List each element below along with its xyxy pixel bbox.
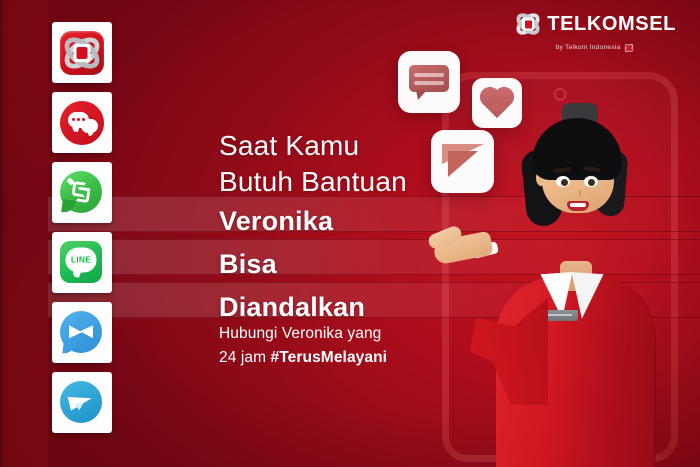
pupil-right: [588, 179, 595, 186]
headline-line-2: Butuh Bantuan: [219, 164, 407, 200]
channel-item-whatsapp[interactable]: [52, 162, 112, 223]
telkom-indonesia-icon: [624, 42, 635, 53]
footer-prefix: 24 jam: [219, 349, 271, 366]
highlight-line-2: Bisa: [219, 243, 365, 286]
line-icon: LINE: [60, 241, 104, 285]
channel-item-messenger[interactable]: [52, 302, 112, 363]
highlight-block: Veronika Bisa Diandalkan: [219, 200, 365, 329]
telkomsel-logo-icon: [514, 10, 542, 38]
telkomsel-veronika-banner: LINE Saat Kamu Butuh Bantuan Veronika Bi…: [0, 0, 700, 467]
telegram-icon: [60, 381, 104, 425]
veronika-character: [450, 0, 700, 467]
footer-line-1: Hubungi Veronika yang: [219, 322, 387, 346]
headline-block: Saat Kamu Butuh Bantuan: [219, 128, 407, 200]
left-side-band: [0, 0, 48, 467]
headline-line-1: Saat Kamu: [219, 128, 407, 164]
channel-item-veronika-chat[interactable]: [52, 92, 112, 153]
footer-block: Hubungi Veronika yang 24 jam #TerusMelay…: [219, 322, 387, 370]
open-hand-gesture: [426, 228, 498, 264]
messenger-icon: [60, 311, 104, 355]
pupil-left: [561, 179, 568, 186]
channel-item-telegram[interactable]: [52, 372, 112, 433]
brand-wordmark: TELKOMSEL: [547, 13, 676, 36]
footer-line-2: 24 jam #TerusMelayani: [219, 346, 387, 370]
chat-bubble-glyph: [409, 65, 449, 92]
line-label: LINE: [71, 256, 91, 265]
chat-bubble-icon: [60, 101, 104, 145]
channel-item-telkomsel[interactable]: [52, 22, 112, 83]
telkomsel-app-icon: [60, 31, 104, 75]
channel-icon-column: LINE: [52, 22, 112, 433]
left-edge-shadow: [0, 0, 6, 467]
brand-tagline: by Telkom Indonesia: [514, 42, 676, 53]
highlight-line-1: Veronika: [219, 200, 365, 243]
channel-item-line[interactable]: LINE: [52, 232, 112, 293]
mouth: [567, 201, 589, 211]
whatsapp-icon: [60, 171, 104, 215]
footer-hashtag: #TerusMelayani: [271, 349, 388, 366]
brand-tagline-text: by Telkom Indonesia: [556, 44, 621, 51]
telkomsel-brand-logo: TELKOMSEL by Telkom Indonesia: [514, 10, 676, 53]
